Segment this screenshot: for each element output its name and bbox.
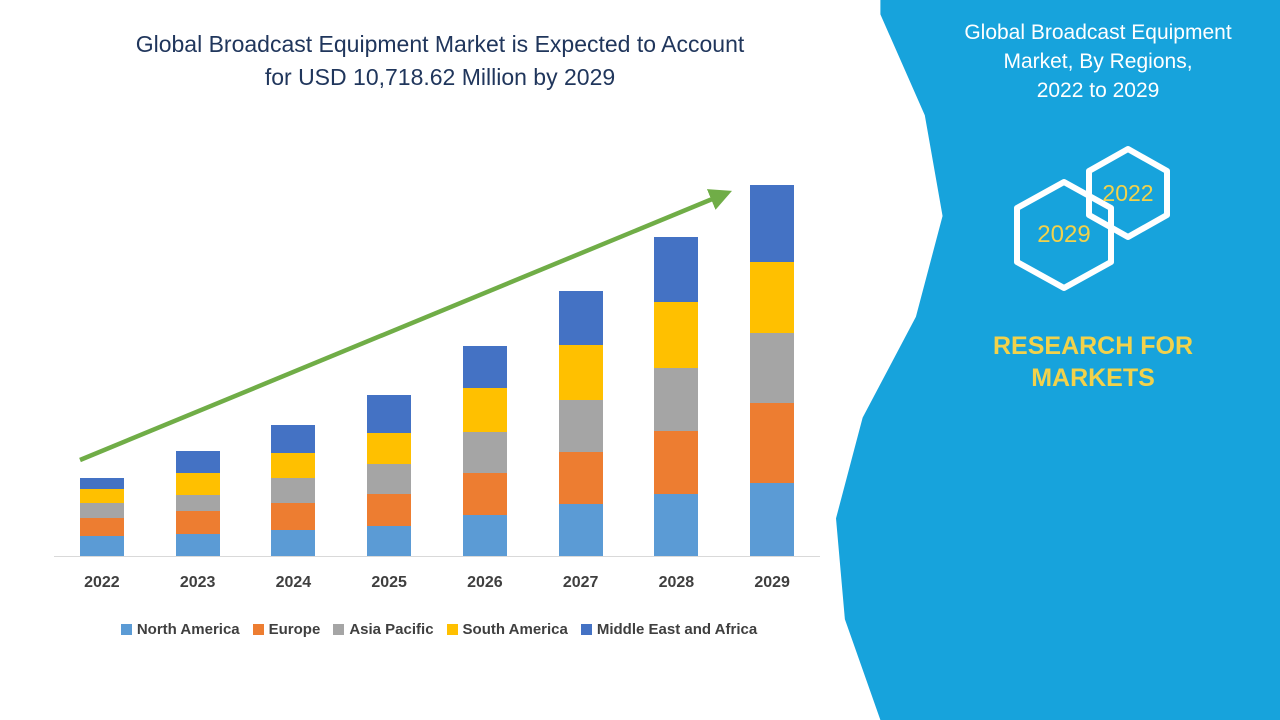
bar-segment bbox=[367, 494, 411, 526]
legend-item[interactable]: Asia Pacific bbox=[333, 621, 433, 638]
stacked-bar bbox=[750, 185, 794, 556]
stacked-bar bbox=[654, 237, 698, 556]
stacked-bar bbox=[176, 451, 220, 556]
right-panel-title-line-3: 2022 to 2029 bbox=[916, 76, 1280, 105]
hexagon-start-year: 2022 bbox=[1080, 145, 1176, 241]
bar-segment bbox=[271, 503, 315, 530]
bar-segment bbox=[559, 291, 603, 345]
bar-segment bbox=[176, 511, 220, 534]
bar-segment bbox=[750, 185, 794, 262]
legend-swatch bbox=[581, 624, 592, 635]
x-axis-label: 2024 bbox=[246, 574, 342, 592]
x-axis-label: 2027 bbox=[533, 574, 629, 592]
bar-segment bbox=[654, 302, 698, 368]
x-axis-label: 2026 bbox=[437, 574, 533, 592]
legend-swatch bbox=[447, 624, 458, 635]
chart-legend: North AmericaEuropeAsia PacificSouth Ame… bbox=[54, 617, 824, 641]
bar-segment bbox=[271, 453, 315, 478]
legend-swatch bbox=[253, 624, 264, 635]
bar-group bbox=[341, 150, 437, 556]
legend-label: North America bbox=[137, 621, 240, 638]
legend-item[interactable]: South America bbox=[447, 621, 568, 638]
bar-group bbox=[629, 150, 725, 556]
bar-segment bbox=[176, 451, 220, 473]
bar-group bbox=[54, 150, 150, 556]
stacked-bar bbox=[271, 425, 315, 556]
legend-label: Middle East and Africa bbox=[597, 621, 757, 638]
bar-series-container bbox=[54, 150, 820, 556]
bar-group bbox=[246, 150, 342, 556]
bar-segment bbox=[176, 473, 220, 495]
bar-group bbox=[724, 150, 820, 556]
bar-segment bbox=[176, 495, 220, 511]
hexagon-end-year-label: 2029 bbox=[1037, 221, 1090, 249]
x-axis-label: 2028 bbox=[629, 574, 725, 592]
x-axis-line bbox=[54, 556, 820, 557]
right-panel-title: Global Broadcast Equipment Market, By Re… bbox=[836, 18, 1280, 105]
legend-item[interactable]: Middle East and Africa bbox=[581, 621, 757, 638]
legend-swatch bbox=[333, 624, 344, 635]
bar-segment bbox=[367, 433, 411, 464]
bar-segment bbox=[80, 489, 124, 503]
chart-plot-area: 20222023202420252026202720282029 bbox=[0, 0, 836, 600]
x-axis-label: 2022 bbox=[54, 574, 150, 592]
legend-swatch bbox=[121, 624, 132, 635]
bar-segment bbox=[654, 237, 698, 302]
bar-segment bbox=[80, 536, 124, 556]
bar-segment bbox=[271, 478, 315, 503]
bar-segment bbox=[271, 530, 315, 556]
hexagon-year-badges: 2029 2022 bbox=[996, 145, 1226, 295]
bar-segment bbox=[80, 478, 124, 489]
bar-segment bbox=[750, 262, 794, 333]
x-axis-label: 2029 bbox=[724, 574, 820, 592]
bar-segment bbox=[559, 452, 603, 504]
x-axis-labels: 20222023202420252026202720282029 bbox=[54, 574, 820, 598]
bar-segment bbox=[750, 333, 794, 403]
stacked-bar bbox=[463, 346, 507, 556]
bar-segment bbox=[463, 515, 507, 556]
brand-name: RESEARCH FOR MARKETS bbox=[836, 330, 1280, 394]
bar-segment bbox=[559, 345, 603, 400]
slide-root: Global Broadcast Equipment Market is Exp… bbox=[0, 0, 1280, 720]
stacked-bar bbox=[80, 478, 124, 556]
right-panel-content: Global Broadcast Equipment Market, By Re… bbox=[836, 0, 1280, 720]
stacked-bar bbox=[559, 291, 603, 556]
bar-segment bbox=[463, 388, 507, 432]
bar-segment bbox=[654, 368, 698, 431]
brand-name-line-1: RESEARCH FOR bbox=[906, 330, 1280, 362]
brand-name-line-2: MARKETS bbox=[906, 362, 1280, 394]
bar-segment bbox=[80, 503, 124, 518]
x-axis-label: 2025 bbox=[341, 574, 437, 592]
x-axis-label: 2023 bbox=[150, 574, 246, 592]
bar-group bbox=[533, 150, 629, 556]
right-panel-title-line-2: Market, By Regions, bbox=[916, 47, 1280, 76]
bar-segment bbox=[367, 395, 411, 433]
bar-segment bbox=[559, 504, 603, 556]
hexagon-start-year-label: 2022 bbox=[1102, 180, 1153, 207]
stacked-bar bbox=[367, 395, 411, 556]
bar-segment bbox=[654, 494, 698, 556]
bar-segment bbox=[367, 464, 411, 494]
legend-item[interactable]: Europe bbox=[253, 621, 321, 638]
bar-segment bbox=[80, 518, 124, 536]
legend-item[interactable]: North America bbox=[121, 621, 240, 638]
bar-segment bbox=[271, 425, 315, 453]
right-panel-title-line-1: Global Broadcast Equipment bbox=[916, 18, 1280, 47]
bar-segment bbox=[750, 403, 794, 483]
bar-segment bbox=[176, 534, 220, 556]
bar-group bbox=[150, 150, 246, 556]
legend-label: South America bbox=[463, 621, 568, 638]
legend-label: Asia Pacific bbox=[349, 621, 433, 638]
legend-label: Europe bbox=[269, 621, 321, 638]
bar-segment bbox=[463, 346, 507, 388]
bar-group bbox=[437, 150, 533, 556]
bar-segment bbox=[367, 526, 411, 556]
bar-segment bbox=[559, 400, 603, 452]
bar-segment bbox=[750, 483, 794, 556]
bar-segment bbox=[463, 432, 507, 473]
bar-segment bbox=[654, 431, 698, 494]
bar-segment bbox=[463, 473, 507, 515]
